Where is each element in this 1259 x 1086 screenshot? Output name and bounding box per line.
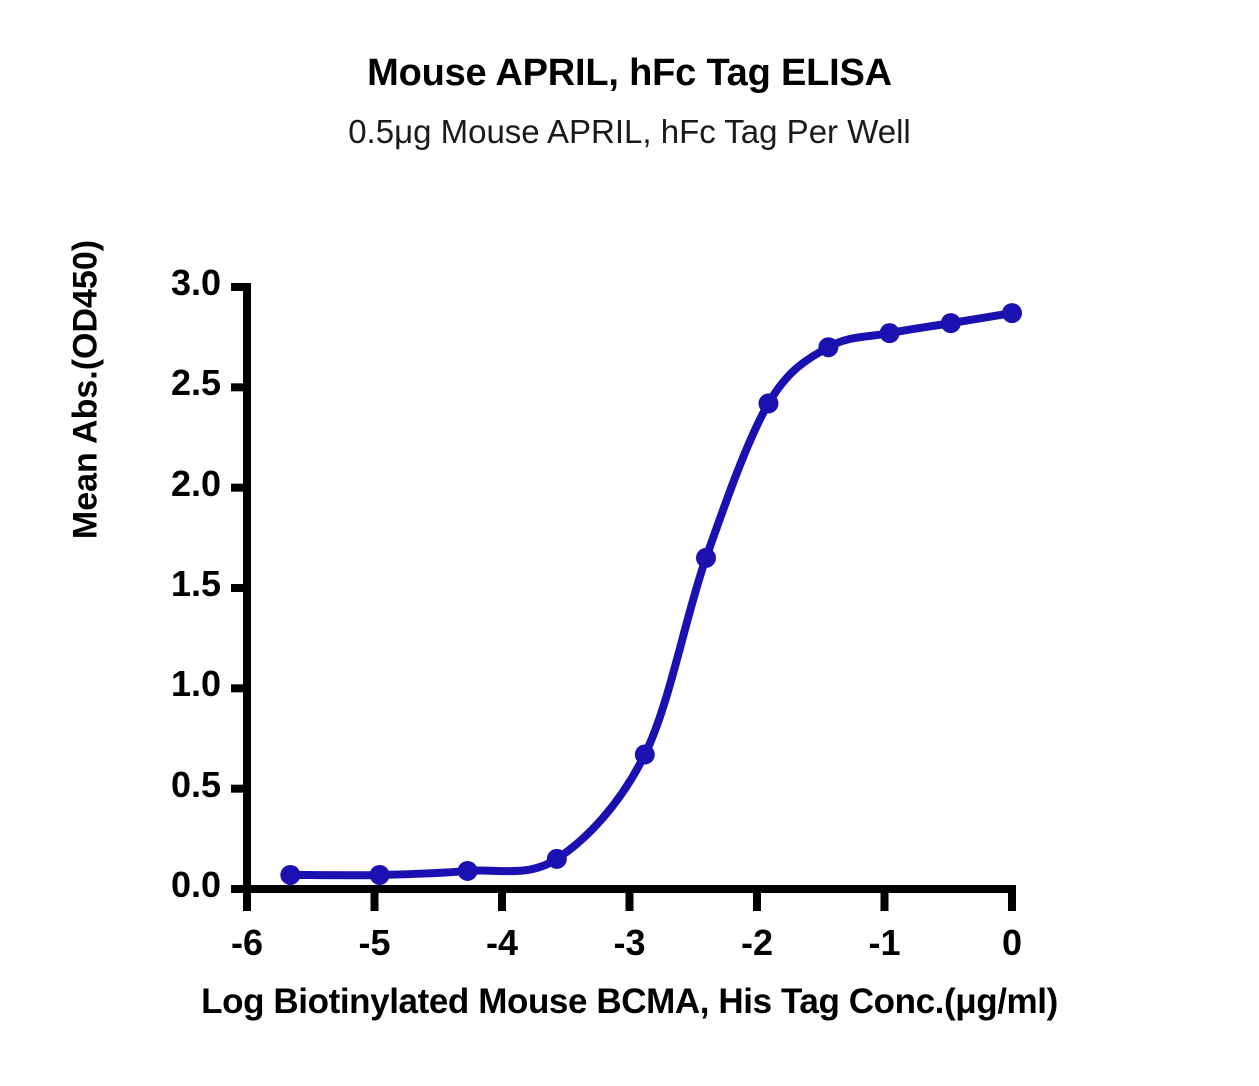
x-tick-label: -3 xyxy=(590,922,670,964)
data-point xyxy=(370,865,390,885)
data-point xyxy=(458,861,478,881)
data-point xyxy=(880,323,900,343)
axes xyxy=(231,283,1016,911)
y-tick-label: 0.5 xyxy=(101,764,221,806)
data-point xyxy=(635,745,655,765)
elisa-chart-figure: Mouse APRIL, hFc Tag ELISA 0.5μg Mouse A… xyxy=(0,0,1259,1086)
x-tick-label: -2 xyxy=(717,922,797,964)
x-tick-label: 0 xyxy=(972,922,1052,964)
data-point xyxy=(280,865,300,885)
y-tick-label: 1.0 xyxy=(101,663,221,705)
series-line-0 xyxy=(290,313,1012,875)
data-point xyxy=(758,393,778,413)
data-point xyxy=(696,548,716,568)
y-tick-label: 2.0 xyxy=(101,463,221,505)
data-point xyxy=(818,337,838,357)
y-tick-label: 3.0 xyxy=(101,262,221,304)
data-point xyxy=(1002,303,1022,323)
y-tick-label: 1.5 xyxy=(101,563,221,605)
y-tick-label: 2.5 xyxy=(101,362,221,404)
x-tick-label: -1 xyxy=(845,922,925,964)
x-tick-label: -6 xyxy=(207,922,287,964)
data-point xyxy=(547,849,567,869)
x-tick-label: -4 xyxy=(462,922,542,964)
y-tick-label: 0.0 xyxy=(101,864,221,906)
x-tick-label: -5 xyxy=(335,922,415,964)
data-point xyxy=(941,313,961,333)
data-series xyxy=(280,303,1022,885)
